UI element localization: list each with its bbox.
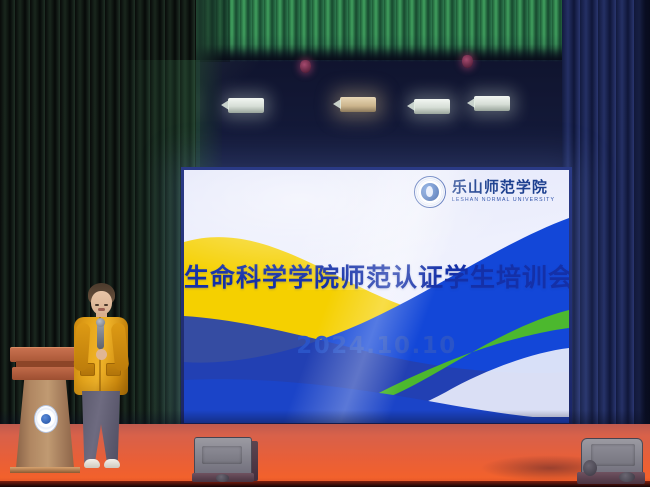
monitor-port (216, 474, 229, 482)
presenter-face (91, 291, 112, 315)
par-can-light-icon (340, 97, 376, 112)
stage-monitor-right (575, 438, 647, 486)
university-logo: 乐山师范学院 LESHAN NORMAL UNIVERSITY (414, 176, 555, 208)
presenter-eye (95, 304, 99, 306)
projection-screen: 乐山师范学院 LESHAN NORMAL UNIVERSITY 生命科学学院师范… (184, 170, 569, 423)
presenter-eye (104, 304, 108, 306)
university-logo-text: 乐山师范学院 LESHAN NORMAL UNIVERSITY (452, 180, 555, 203)
presenter-mouth (98, 308, 105, 311)
slide-date: 2024.10.10 (184, 333, 569, 359)
monitor-port (583, 460, 597, 476)
hanging-lamp-icon (462, 55, 473, 68)
par-can-light-icon (414, 99, 450, 114)
presenter-hand (96, 349, 107, 360)
stage-monitor-left (192, 437, 262, 483)
university-name-en: LESHAN NORMAL UNIVERSITY (452, 198, 555, 203)
hanging-lamp-icon (300, 60, 311, 73)
monitor-port (619, 472, 635, 482)
monitor-grill (202, 446, 242, 464)
university-name-cn: 乐山师范学院 (452, 180, 555, 195)
handheld-microphone-icon (97, 321, 104, 349)
presenter-person (66, 283, 136, 483)
presenter-shoe (104, 459, 120, 468)
podium-university-seal-icon (34, 405, 58, 433)
presenter-shoe (84, 459, 100, 468)
par-can-light-icon (474, 96, 510, 111)
monitor-grill (591, 444, 635, 466)
slide-title: 生命科学学院师范认证学生培训会 (184, 258, 569, 294)
seal-inner-emblem (421, 183, 439, 201)
university-seal-icon (414, 176, 446, 208)
par-can-light-icon (228, 98, 264, 113)
presenter-trousers (82, 391, 120, 463)
stage-photograph: 乐山师范学院 LESHAN NORMAL UNIVERSITY 生命科学学院师范… (0, 0, 650, 487)
